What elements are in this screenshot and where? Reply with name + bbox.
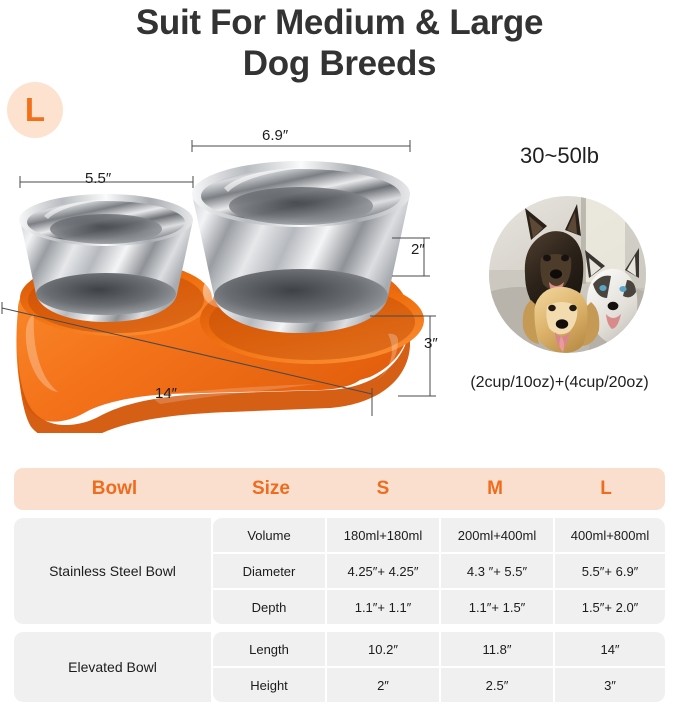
cell-volume-l: 400ml+800ml: [555, 518, 665, 552]
page-title-line-1: Suit For Medium & Large: [0, 2, 679, 43]
cell-length-l: 14″: [555, 632, 665, 666]
page-title-line-2: Dog Breeds: [0, 43, 679, 84]
row-header-elevated-bowl: Elevated Bowl: [14, 632, 211, 702]
dimension-label-bowl-depth: 2″: [411, 241, 425, 258]
spec-table: Bowl Size S M L Stainless Steel Bowl Vol…: [14, 468, 665, 702]
cell-diameter-l: 5.5″+ 6.9″: [555, 554, 665, 588]
table-row: Volume 180ml+180ml 200ml+400ml 400ml+800…: [213, 518, 665, 552]
page-title: Suit For Medium & Large Dog Breeds: [0, 2, 679, 84]
row-label-diameter: Diameter: [213, 554, 325, 588]
capacity-label: (2cup/10oz)+(4cup/20oz): [437, 374, 679, 392]
column-header-l: L: [551, 478, 661, 500]
cell-diameter-s: 4.25″+ 4.25″: [327, 554, 439, 588]
column-header-m: M: [439, 478, 551, 500]
table-row: Depth 1.1″+ 1.1″ 1.1″+ 1.5″ 1.5″+ 2.0″: [213, 590, 665, 624]
spec-block-stainless-steel-bowl: Stainless Steel Bowl Volume 180ml+180ml …: [14, 518, 665, 624]
cell-height-l: 3″: [555, 668, 665, 702]
table-row: Diameter 4.25″+ 4.25″ 4.3 ″+ 5.5″ 5.5″+ …: [213, 554, 665, 588]
weight-range-label: 30~50lb: [440, 143, 679, 169]
cell-length-m: 11.8″: [441, 632, 553, 666]
row-label-depth: Depth: [213, 590, 325, 624]
row-label-length: Length: [213, 632, 325, 666]
cell-height-m: 2.5″: [441, 668, 553, 702]
row-label-height: Height: [213, 668, 325, 702]
three-dogs-photo: [489, 196, 646, 353]
product-illustration: [0, 128, 440, 433]
cell-volume-m: 200ml+400ml: [441, 518, 553, 552]
table-row: Height 2″ 2.5″ 3″: [213, 668, 665, 702]
spec-table-header-row: Bowl Size S M L: [14, 468, 665, 510]
cell-diameter-m: 4.3 ″+ 5.5″: [441, 554, 553, 588]
dimension-label-stand-length: 14″: [155, 385, 177, 402]
small-steel-bowl: [19, 194, 193, 322]
spec-block-elevated-bowl: Elevated Bowl Length 10.2″ 11.8″ 14″ Hei…: [14, 632, 665, 702]
cell-height-s: 2″: [327, 668, 439, 702]
column-header-s: S: [327, 478, 439, 500]
large-steel-bowl: [192, 161, 410, 333]
dimension-label-stand-height: 3″: [424, 335, 438, 352]
row-label-volume: Volume: [213, 518, 325, 552]
cell-length-s: 10.2″: [327, 632, 439, 666]
dimension-label-large-bowl-diameter: 6.9″: [262, 127, 288, 144]
dimension-label-small-bowl-diameter: 5.5″: [85, 170, 111, 187]
cell-depth-m: 1.1″+ 1.5″: [441, 590, 553, 624]
cell-volume-s: 180ml+180ml: [327, 518, 439, 552]
cell-depth-s: 1.1″+ 1.1″: [327, 590, 439, 624]
column-header-bowl: Bowl: [14, 478, 215, 500]
table-row: Length 10.2″ 11.8″ 14″: [213, 632, 665, 666]
row-header-stainless-steel-bowl: Stainless Steel Bowl: [14, 518, 211, 624]
size-badge-label: L: [25, 93, 45, 128]
column-header-size: Size: [215, 478, 327, 500]
cell-depth-l: 1.5″+ 2.0″: [555, 590, 665, 624]
